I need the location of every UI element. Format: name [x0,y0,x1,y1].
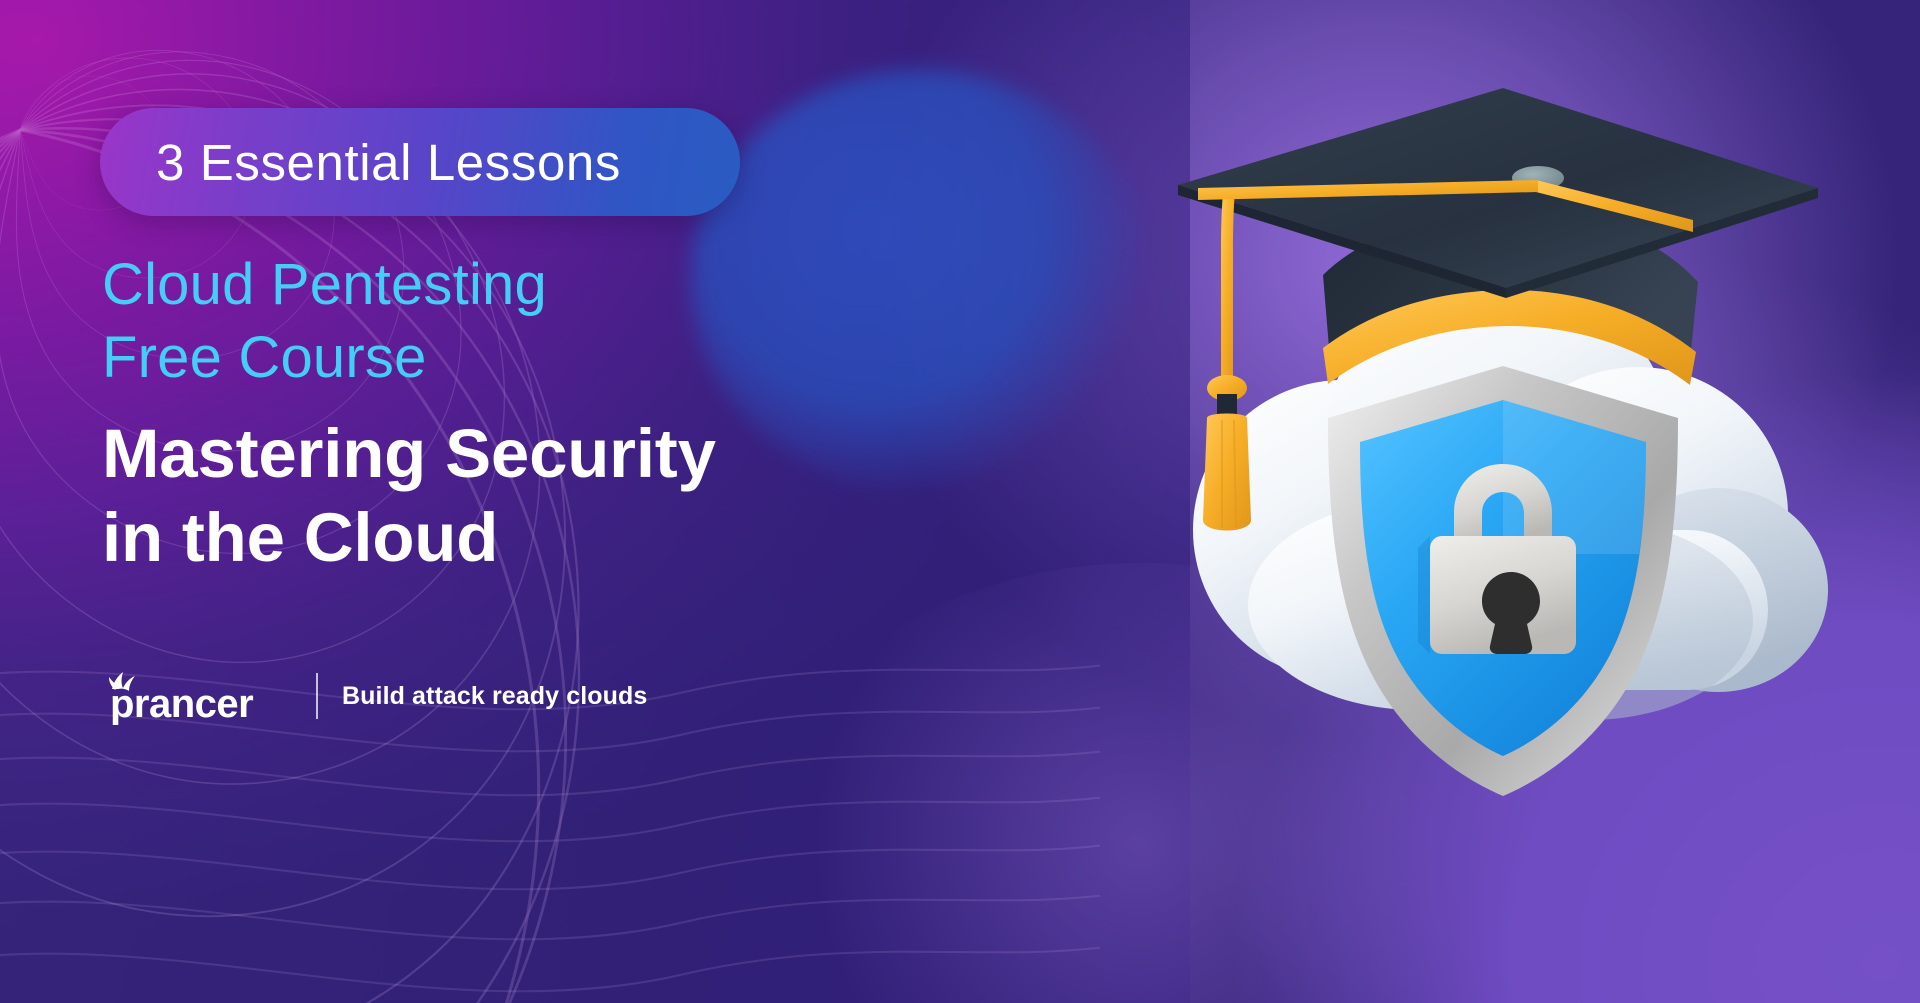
content-column: 3 Essential Lessons Cloud Pentesting Fre… [100,0,900,1003]
brand-tagline: Build attack ready clouds [342,682,647,711]
course-subtitle: Cloud Pentesting Free Course [102,248,547,394]
lessons-badge[interactable]: 3 Essential Lessons [100,108,740,216]
page-title: Mastering Security in the Cloud [102,412,716,580]
brand-lockup[interactable]: prancer Build attack ready clouds [102,667,647,725]
cloud-security-illustration [1118,60,1838,850]
prancer-logo-icon: prancer [102,667,292,725]
promo-banner: 3 Essential Lessons Cloud Pentesting Fre… [0,0,1920,1003]
svg-text:prancer: prancer [110,682,253,725]
lessons-badge-label: 3 Essential Lessons [156,133,621,192]
logo-divider [316,673,318,719]
shield [1328,366,1678,796]
